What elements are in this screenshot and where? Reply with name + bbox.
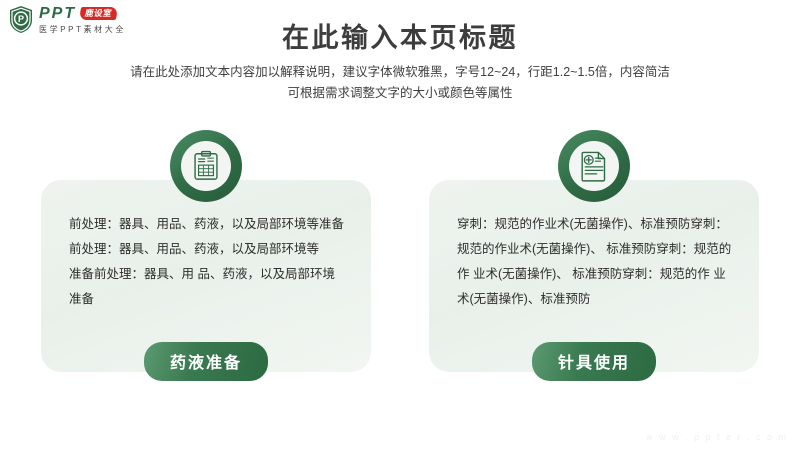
pill-label-drug-preparation[interactable]: 药液准备	[144, 342, 268, 381]
subtitle-line-2: 可根据需求调整文字的大小或颜色等属性	[0, 83, 800, 104]
clipboard-checklist-icon	[181, 141, 231, 191]
card-body-text: 穿刺：规范的作业术(无菌操作)、标准预防穿刺：规范的作业术(无菌操作)、 标准预…	[457, 212, 735, 312]
pill-label-needle-usage[interactable]: 针具使用	[532, 342, 656, 381]
medical-document-icon	[569, 141, 619, 191]
card-paragraph-1: 穿刺：规范的作业术(无菌操作)、标准预防穿刺：规范的作业术(无菌操作)、 标准预…	[457, 212, 735, 312]
footer-watermark: w w w . p p t e r . c o m	[646, 432, 788, 442]
subtitle-line-1: 请在此处添加文本内容加以解释说明，建议字体微软雅黑，字号12~24，行距1.2~…	[0, 62, 800, 83]
page-subtitle: 请在此处添加文本内容加以解释说明，建议字体微软雅黑，字号12~24，行距1.2~…	[0, 62, 800, 104]
page-title: 在此输入本页标题	[0, 16, 800, 55]
icon-badge-circle	[558, 130, 630, 202]
card-paragraph-2: 准备前处理：器具、用 品、药液，以及局部环境准备	[69, 262, 347, 312]
card-paragraph-1: 前处理：器具、用品、药液，以及局部环境等准备前处理：器具、用品、药液，以及局部环…	[69, 212, 347, 262]
icon-badge-circle	[170, 130, 242, 202]
card-body-text: 前处理：器具、用品、药液，以及局部环境等准备前处理：器具、用品、药液，以及局部环…	[69, 212, 347, 312]
